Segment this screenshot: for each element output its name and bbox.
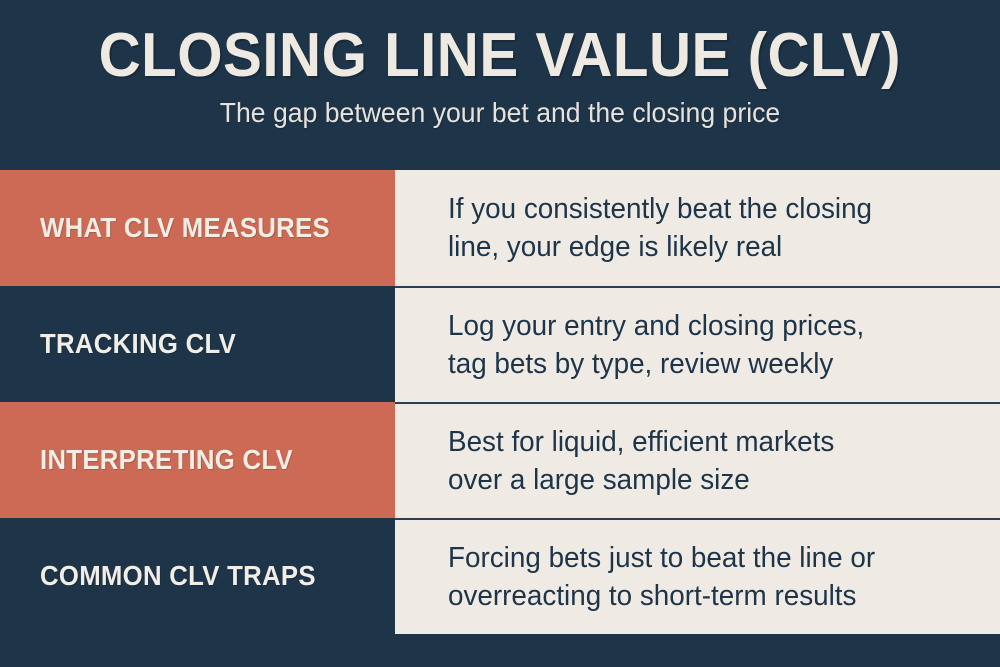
row-label: COMMON CLV TRAPS (40, 560, 316, 592)
table-row: WHAT CLV MEASURES If you consistently be… (0, 170, 1000, 286)
table-row: TRACKING CLV Log your entry and closing … (0, 286, 1000, 402)
row-description-cell: Log your entry and closing prices, tag b… (395, 286, 1000, 402)
row-label: INTERPRETING CLV (40, 444, 293, 476)
row-description-line: Log your entry and closing prices, (448, 307, 864, 345)
row-description-line: Forcing bets just to beat the line or (448, 539, 875, 577)
row-description-cell: Forcing bets just to beat the line or ov… (395, 518, 1000, 634)
content-rows: WHAT CLV MEASURES If you consistently be… (0, 170, 1000, 634)
header-banner: CLOSING LINE VALUE (CLV) The gap between… (0, 0, 1000, 170)
row-description-line: Best for liquid, efficient markets (448, 423, 834, 461)
row-label: TRACKING CLV (40, 328, 236, 360)
row-description-line: overreacting to short-term results (448, 577, 875, 615)
page-title: CLOSING LINE VALUE (CLV) (99, 22, 901, 90)
row-label: WHAT CLV MEASURES (40, 212, 330, 244)
row-description-line: tag bets by type, review weekly (448, 345, 864, 383)
row-description: Log your entry and closing prices, tag b… (448, 307, 864, 383)
table-row: COMMON CLV TRAPS Forcing bets just to be… (0, 518, 1000, 634)
row-description: Forcing bets just to beat the line or ov… (448, 539, 875, 615)
row-description: If you consistently beat the closing lin… (448, 190, 872, 266)
row-description-cell: Best for liquid, efficient markets over … (395, 402, 1000, 518)
row-description-cell: If you consistently beat the closing lin… (395, 170, 1000, 286)
page-subtitle: The gap between your bet and the closing… (220, 96, 780, 130)
row-description-line: If you consistently beat the closing (448, 190, 872, 228)
row-description: Best for liquid, efficient markets over … (448, 423, 834, 499)
row-label-cell: TRACKING CLV (0, 286, 395, 402)
row-label-cell: COMMON CLV TRAPS (0, 518, 395, 634)
row-label-cell: INTERPRETING CLV (0, 402, 395, 518)
row-description-line: line, your edge is likely real (448, 228, 872, 266)
row-label-cell: WHAT CLV MEASURES (0, 170, 395, 286)
footer-strip (0, 634, 1000, 667)
row-description-line: over a large sample size (448, 461, 834, 499)
table-row: INTERPRETING CLV Best for liquid, effici… (0, 402, 1000, 518)
clv-infographic: CLOSING LINE VALUE (CLV) The gap between… (0, 0, 1000, 667)
